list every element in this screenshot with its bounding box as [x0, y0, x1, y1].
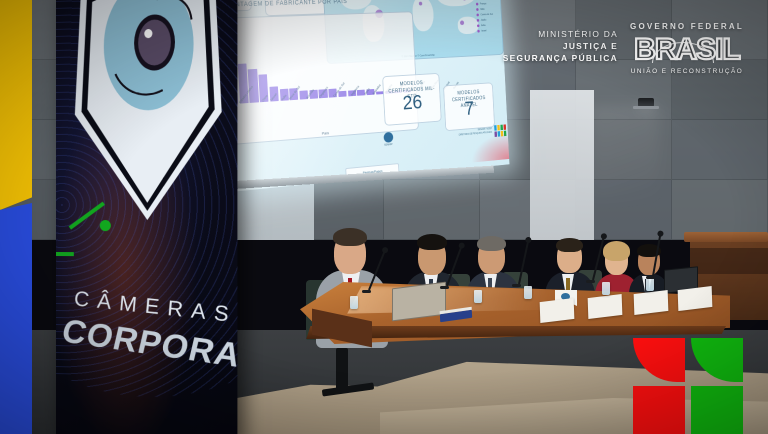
dashboard-canvas: 21 EUA China Brasil [212, 0, 509, 193]
water-glass [474, 290, 482, 303]
legend-item: Itália [480, 8, 484, 11]
legend-item: Índia [481, 24, 486, 27]
map-legend: EUA China Brasil Reino Unido Canadá Alem… [474, 0, 500, 50]
water-glass [646, 278, 654, 291]
mark-red-top-icon [633, 338, 685, 382]
kpi-card-mil-std: MODELOS CERTIFICADOS MIL-STD 26 [382, 73, 442, 126]
green-connector-node [100, 220, 111, 231]
water-glass [350, 296, 358, 309]
senasp-logo-icon: SENASP [382, 132, 395, 148]
federal-government-logo: GOVERNO FEDERAL BRASIL UNIÃO E RECONSTRU… [622, 22, 752, 75]
legend-item: Israel [481, 30, 486, 33]
corner-brand-mark [633, 338, 755, 434]
chair-base [336, 348, 348, 390]
name-card [540, 298, 575, 323]
ministry-wordmark: MINISTÉRIO DA JUSTIÇA E SEGURANÇA PÚBLIC… [503, 29, 618, 65]
legend-item: Japão [481, 19, 487, 22]
flag-bar-yellow [0, 0, 32, 210]
lectern-shadow [690, 248, 768, 274]
water-glass [524, 286, 532, 299]
name-card [678, 286, 713, 311]
flag-bar-blue [0, 203, 32, 434]
ministry-line-3: SEGURANÇA PÚBLICA [503, 53, 618, 65]
hair [333, 228, 367, 246]
wall-bright-column [530, 90, 594, 240]
kpi-anatel-value: 7 [445, 97, 494, 122]
screenshot-root: 21 EUA China Brasil [0, 0, 768, 434]
gov-tagline: UNIÃO E RECONSTRUÇÃO [622, 68, 752, 75]
kpi-mil-value: 26 [384, 90, 440, 116]
microphone-base [586, 280, 595, 283]
microphone-base [362, 290, 371, 293]
lectern-top [684, 232, 768, 242]
microphone-base [512, 284, 521, 287]
hair [556, 238, 583, 252]
mark-green-bottom-icon [691, 386, 743, 434]
camera-corporais-banner: CÂMERAS CORPORAIS [56, 0, 237, 434]
ministry-line-1: MINISTÉRIO DA [503, 29, 618, 41]
green-connector-line [56, 252, 74, 256]
laptop-1 [392, 282, 446, 322]
wall-light-glow [590, 105, 660, 200]
decorative-wave [465, 129, 509, 163]
microphone-base [646, 276, 655, 279]
wall-light-fixture [638, 98, 654, 107]
senasp-logo-label: SENASP [382, 143, 394, 147]
mark-red-bottom-icon [633, 386, 685, 434]
hair [477, 236, 506, 251]
projection-screen: 21 EUA China Brasil [212, 0, 509, 193]
water-glass [602, 282, 610, 295]
mark-green-top-icon [691, 338, 743, 382]
legend-item: Coreia do Sul [480, 13, 493, 16]
body-camera-shield-icon [72, 0, 225, 220]
hair [417, 234, 447, 250]
legend-item: França [480, 2, 487, 5]
name-card [588, 294, 623, 319]
microphone-base [440, 286, 449, 289]
gov-federal-label: GOVERNO FEDERAL [622, 22, 752, 31]
ministry-line-2: JUSTIÇA E [503, 41, 618, 53]
name-card [634, 290, 669, 315]
